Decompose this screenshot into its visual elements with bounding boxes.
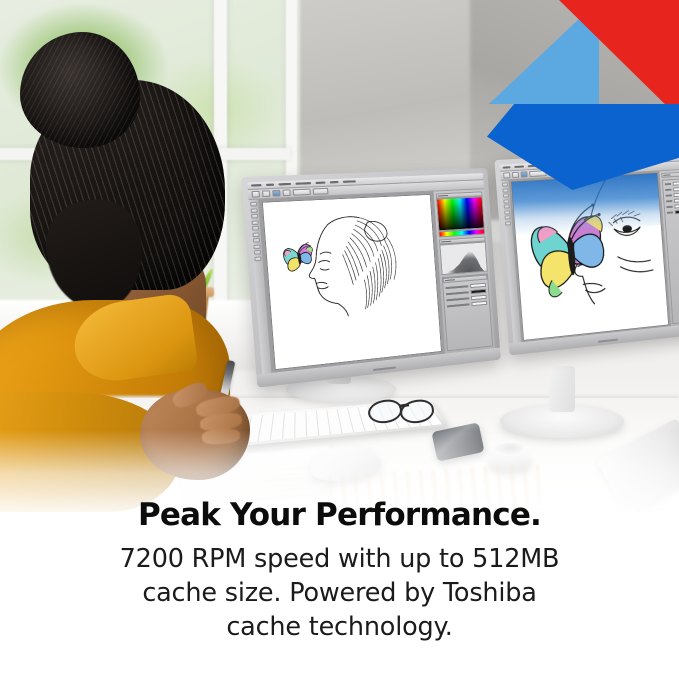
headline: Peak Your Performance. xyxy=(0,498,679,534)
toolbar-dropdown[interactable] xyxy=(293,189,311,196)
histogram-panel[interactable] xyxy=(439,236,488,275)
tool-button[interactable] xyxy=(252,232,259,237)
tool-button[interactable] xyxy=(254,250,261,255)
toolbar-button-active[interactable] xyxy=(521,171,528,177)
artwork-woman-profile-with-butterfly xyxy=(263,195,439,329)
option-row[interactable] xyxy=(666,204,679,209)
option-row[interactable] xyxy=(666,193,679,198)
option-row[interactable] xyxy=(667,210,679,215)
copy-block: Peak Your Performance. 7200 RPM speed wi… xyxy=(0,498,679,645)
tool-button[interactable] xyxy=(251,208,258,213)
toolbar-button[interactable] xyxy=(282,189,290,196)
tool-button[interactable] xyxy=(252,226,259,231)
subcopy-line-2: cache size. Powered by Toshiba xyxy=(0,577,679,611)
histogram-curve xyxy=(444,248,485,273)
toolbar-dropdown[interactable] xyxy=(313,188,329,195)
monitor-logo xyxy=(373,366,396,371)
primary-monitor-screen[interactable] xyxy=(247,173,495,374)
subcopy-line-1: 7200 RPM speed with up to 512MB xyxy=(0,543,679,577)
tool-button[interactable] xyxy=(505,221,511,225)
tool-button[interactable] xyxy=(253,238,260,243)
tool-button[interactable] xyxy=(253,244,260,249)
tool-button[interactable] xyxy=(251,214,258,219)
hair-bun-texture xyxy=(20,32,140,148)
tool-button[interactable] xyxy=(250,202,257,207)
option-row[interactable] xyxy=(447,301,487,309)
panel-header[interactable] xyxy=(661,172,679,178)
histogram-graph xyxy=(439,241,487,275)
options-panel[interactable] xyxy=(442,274,493,352)
tool-button[interactable] xyxy=(251,220,258,225)
tool-button[interactable] xyxy=(504,204,510,208)
primary-monitor[interactable] xyxy=(241,168,501,388)
round-speaker-top xyxy=(494,443,526,456)
artwork-canvas[interactable] xyxy=(263,195,441,369)
tool-button[interactable] xyxy=(505,215,511,219)
tool-button[interactable] xyxy=(503,193,509,197)
toolbar-button[interactable] xyxy=(503,172,510,178)
toolbar-button[interactable] xyxy=(251,191,260,198)
corner-flag-graphic xyxy=(489,0,679,165)
subcopy-line-3: cache technology. xyxy=(0,611,679,645)
subcopy: 7200 RPM speed with up to 512MB cache si… xyxy=(0,543,679,645)
toolbar-button[interactable] xyxy=(262,190,271,197)
color-panel[interactable] xyxy=(436,191,485,237)
hero-photo xyxy=(0,0,679,512)
canvas-area[interactable] xyxy=(259,192,444,373)
artwork-butterfly-closeup xyxy=(512,173,667,317)
option-row[interactable] xyxy=(665,181,679,186)
app-workspace xyxy=(501,170,679,343)
app-workspace xyxy=(249,189,495,374)
right-panel-group[interactable] xyxy=(433,189,496,353)
artwork-canvas-zoomed[interactable] xyxy=(512,173,669,340)
option-row[interactable] xyxy=(665,187,679,192)
canvas-area[interactable] xyxy=(510,171,671,342)
marketing-image: Peak Your Performance. 7200 RPM speed wi… xyxy=(0,0,679,679)
tool-button[interactable] xyxy=(254,256,261,261)
tool-button[interactable] xyxy=(504,210,510,214)
toolbar-button-active[interactable] xyxy=(272,190,280,197)
tool-button[interactable] xyxy=(502,188,508,192)
tool-button[interactable] xyxy=(502,182,508,186)
color-picker-field[interactable] xyxy=(436,196,485,231)
toolbar-button[interactable] xyxy=(512,172,519,178)
options-panel-header[interactable] xyxy=(443,275,488,284)
tool-button[interactable] xyxy=(503,199,509,203)
option-row[interactable] xyxy=(666,198,679,203)
monitor-logo xyxy=(598,339,618,343)
monitor-stand-neck-secondary xyxy=(549,366,575,412)
